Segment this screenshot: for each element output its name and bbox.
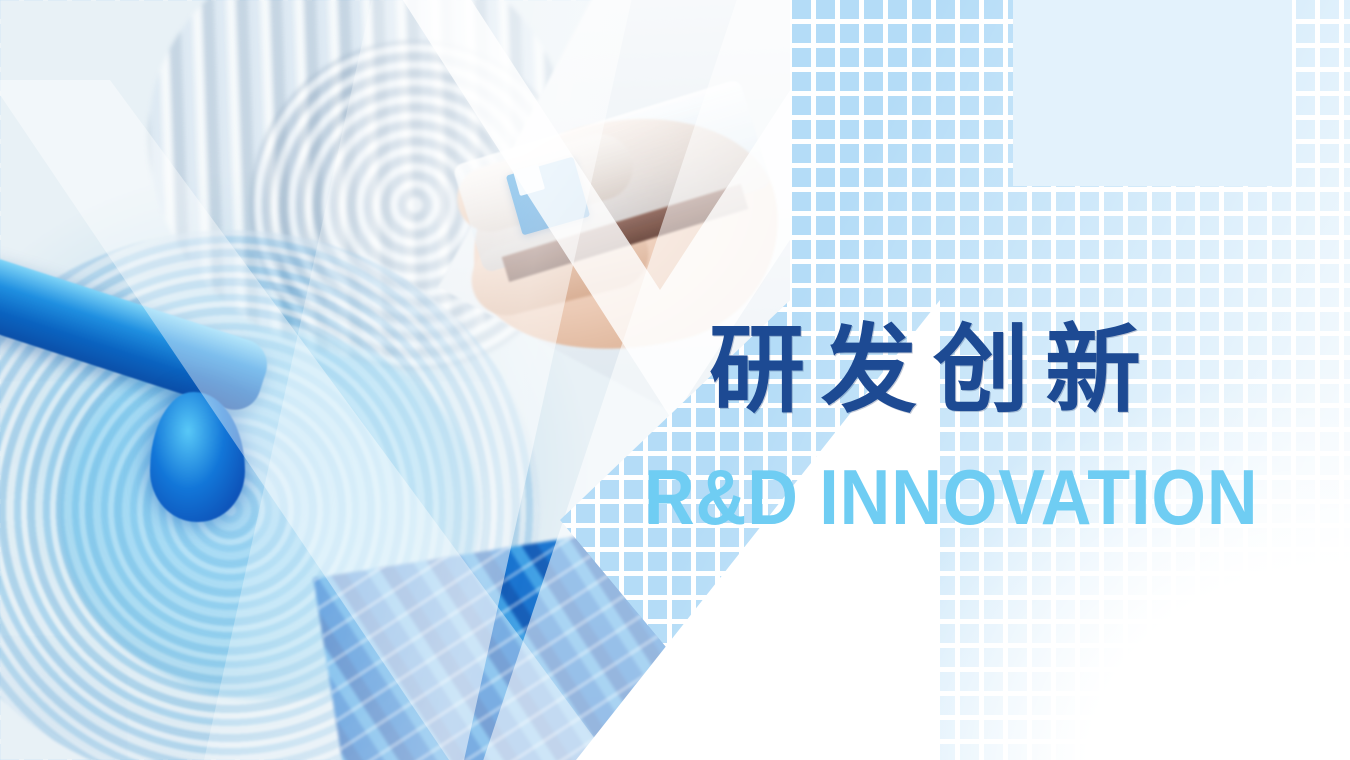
rd-innovation-banner: 恒瑞 研发创新 R&D INNOVATION (0, 0, 1350, 760)
logo-panel: 恒瑞 (1013, 0, 1292, 186)
page-subtitle-en: R&D INNOVATION (644, 458, 1258, 536)
page-title-cn: 研发创新 (709, 322, 1157, 418)
